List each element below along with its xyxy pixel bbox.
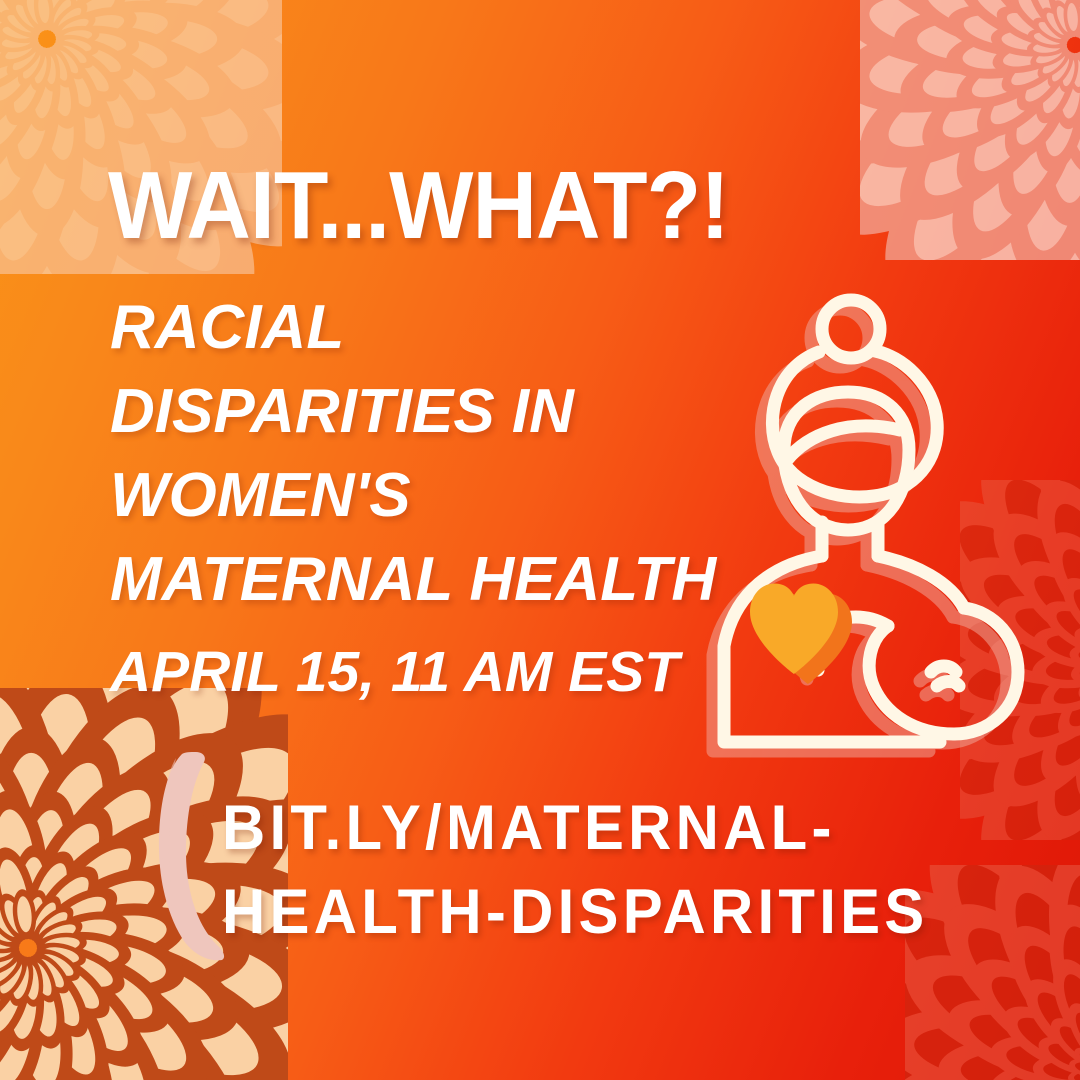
url-line-1: BIT.LY/MATERNAL- <box>222 786 973 870</box>
event-datetime: APRIL 15, 11 AM EST <box>110 643 679 703</box>
poster-text-content: WAIT...WHAT?! RACIAL DISPARITIES IN WOME… <box>0 0 1080 1080</box>
subtitle-line-3: WOMEN'S <box>110 454 750 538</box>
subtitle-line-2: DISPARITIES IN <box>110 370 750 454</box>
subtitle-line-4: MATERNAL HEALTH <box>110 538 750 622</box>
url-line-2: HEALTH-DISPARITIES <box>222 870 973 954</box>
subtitle-line-1: RACIAL <box>110 286 750 370</box>
page-title: WAIT...WHAT?! <box>108 158 729 254</box>
subtitle-block: RACIAL DISPARITIES IN WOMEN'S MATERNAL H… <box>110 286 750 622</box>
registration-url[interactable]: BIT.LY/MATERNAL- HEALTH-DISPARITIES <box>222 786 973 954</box>
promo-poster: WAIT...WHAT?! RACIAL DISPARITIES IN WOME… <box>0 0 1080 1080</box>
